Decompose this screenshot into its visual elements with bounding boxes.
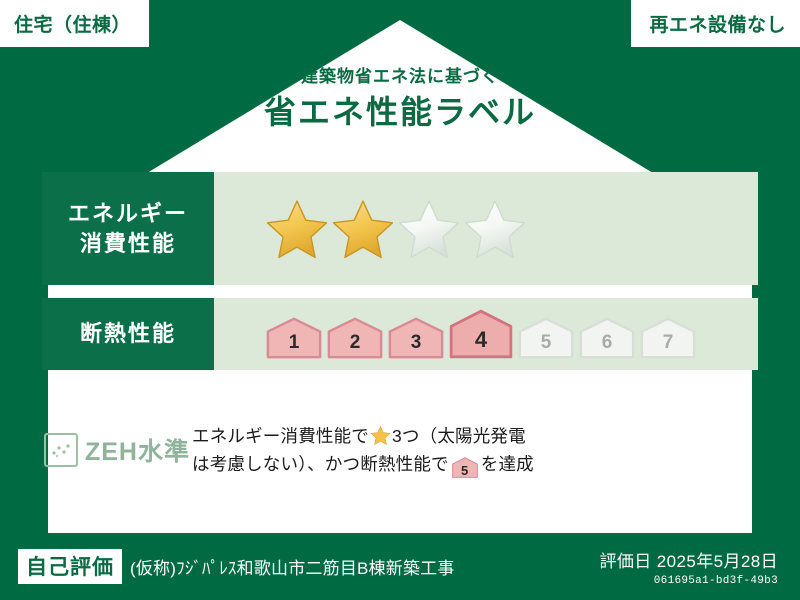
note-text-part2: 3つ（太陽光発電 [392, 426, 526, 446]
heading-subtitle: 建築物省エネ法に基づく [0, 66, 800, 88]
insulation-level-badge-value: 5 [541, 332, 552, 359]
insulation-level-badge: 3 [388, 317, 444, 359]
evaluation-id: 061695a1-bd3f-49b3 [599, 575, 778, 587]
building-type-tag-label: 住宅（住棟） [14, 10, 131, 37]
insulation-level-badge-value: 3 [411, 332, 422, 359]
star-icon-empty [464, 198, 526, 260]
insulation-label-line1: 断熱性能 [80, 319, 176, 349]
energy-label-line1: エネルギー [68, 199, 188, 229]
insulation-level-badge: 7 [640, 317, 696, 359]
building-name: (仮称)ﾌｼﾞﾊﾟﾚｽ和歌山市二筋目B棟新築工事 [130, 554, 455, 579]
energy-label-line2: 消費性能 [80, 229, 176, 259]
page-title: 建築物省エネ法に基づく 省エネ性能ラベル [0, 66, 800, 134]
insulation-level-badge: 4 [449, 309, 513, 359]
dotted-square-icon [44, 433, 78, 467]
energy-performance-row-label: エネルギー 消費性能 [42, 172, 214, 285]
insulation-level-badge: 1 [266, 317, 322, 359]
insulation-level-badge-value: 7 [663, 332, 674, 359]
footer-bar: 自己評価 (仮称)ﾌｼﾞﾊﾟﾚｽ和歌山市二筋目B棟新築工事 評価日 2025年5… [0, 533, 800, 600]
performance-rows: エネルギー 消費性能 断熱性能 1234567 [42, 172, 758, 383]
insulation-performance-row: 断熱性能 1234567 [42, 298, 758, 370]
evaluation-type-badge: 自己評価 [18, 549, 122, 584]
insulation-level-badge-value: 1 [289, 332, 300, 359]
note-text-part1: エネルギー消費性能で [192, 426, 369, 446]
achievement-note: エネルギー消費性能で3つ（太陽光発電 は考慮しない）、かつ断熱性能で5を達成 [192, 420, 758, 479]
heading-main-title: 省エネ性能ラベル [0, 91, 800, 134]
zeh-standard-label: ZEH水準 [85, 432, 190, 468]
insulation-level-badge: 2 [327, 317, 383, 359]
star-icon-filled [266, 198, 328, 260]
renewable-equipment-tag: 再エネ設備なし [631, 0, 800, 47]
zeh-standard-mark: ZEH水準 [42, 420, 192, 468]
insulation-level-scale: 1234567 [214, 298, 758, 370]
note-text-part4: を達成 [481, 454, 534, 474]
insulation-level-badge-value: 6 [602, 332, 613, 359]
insulation-level-badge-value: 4 [475, 327, 487, 359]
star-icon [370, 425, 391, 446]
building-type-tag: 住宅（住棟） [0, 0, 149, 47]
note-area: ZEH水準 エネルギー消費性能で3つ（太陽光発電 は考慮しない）、かつ断熱性能で… [42, 420, 758, 479]
insulation-level-badge-value: 2 [350, 332, 361, 359]
insulation-performance-row-label: 断熱性能 [42, 298, 214, 370]
insulation-level-badge: 5 [518, 317, 574, 359]
star-icon-empty [398, 198, 460, 260]
footer-left-group: 自己評価 (仮称)ﾌｼﾞﾊﾟﾚｽ和歌山市二筋目B棟新築工事 [18, 549, 599, 584]
footer-right-group: 評価日 2025年5月28日 061695a1-bd3f-49b3 [599, 547, 782, 587]
energy-performance-label: 住宅（住棟） 再エネ設備なし 建築物省エネ法に基づく 省エネ性能ラベル エネルギ… [0, 0, 800, 600]
renewable-equipment-tag-label: 再エネ設備なし [649, 10, 786, 37]
note-text-part3: は考慮しない）、かつ断熱性能で [192, 454, 449, 474]
star-icon-filled [332, 198, 394, 260]
insulation-level-badge: 6 [579, 317, 635, 359]
energy-performance-row: エネルギー 消費性能 [42, 172, 758, 285]
evaluation-date: 評価日 2025年5月28日 [599, 547, 778, 572]
inline-level-badge: 5 [452, 457, 478, 478]
energy-star-rating [214, 172, 758, 285]
inline-level-badge-value: 5 [452, 457, 478, 484]
